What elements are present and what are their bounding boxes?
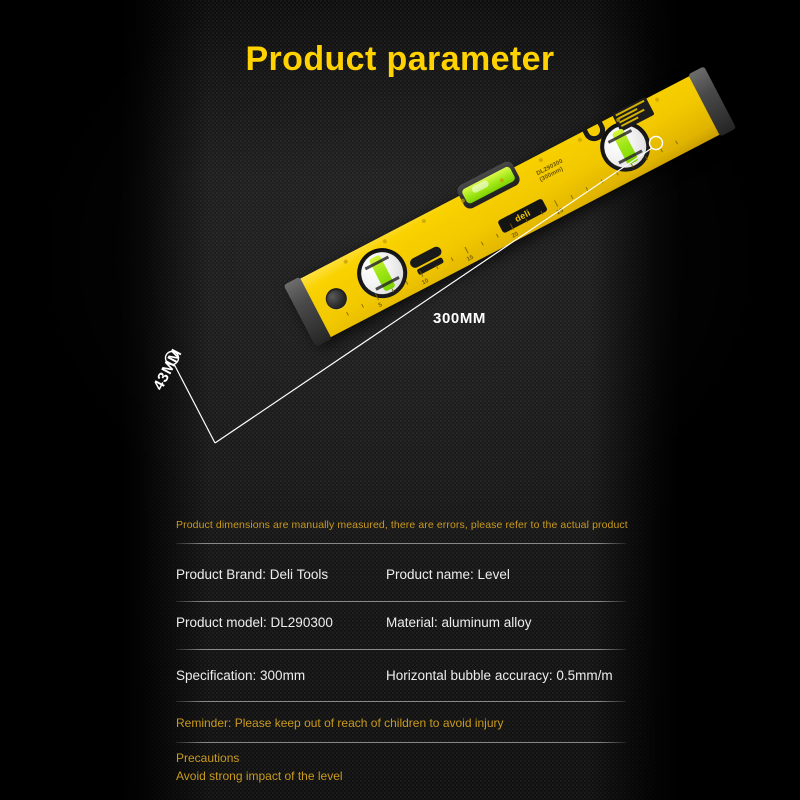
measurement-disclaimer: Product dimensions are manually measured…: [176, 519, 646, 531]
spec-accuracy: Horizontal bubble accuracy: 0.5mm/m: [386, 668, 613, 683]
row-divider: [176, 649, 626, 650]
spec-model: Product model: DL290300: [176, 615, 333, 630]
product-parameter-page: Product parameter deli DL290300: [0, 0, 800, 800]
dimension-label-length: 300MM: [433, 310, 486, 327]
row-divider: [176, 742, 626, 743]
reminder-text: Reminder: Please keep out of reach of ch…: [176, 716, 504, 730]
row-divider: [176, 543, 626, 544]
row-divider: [176, 701, 626, 702]
spec-material: Material: aluminum alloy: [386, 615, 532, 630]
spec-product-name: Product name: Level: [386, 567, 510, 582]
precautions-text: Avoid strong impact of the level: [176, 769, 343, 783]
spirit-level-illustration: deli DL290300 (300mm) 5: [288, 70, 732, 344]
spec-specification: Specification: 300mm: [176, 668, 305, 683]
precautions-title: Precautions: [176, 751, 239, 765]
spec-brand: Product Brand: Deli Tools: [176, 567, 328, 582]
product-image: deli DL290300 (300mm) 5: [120, 70, 680, 490]
row-divider: [176, 601, 626, 602]
ruler-scale: 5 10 15 20 25: [327, 117, 711, 331]
